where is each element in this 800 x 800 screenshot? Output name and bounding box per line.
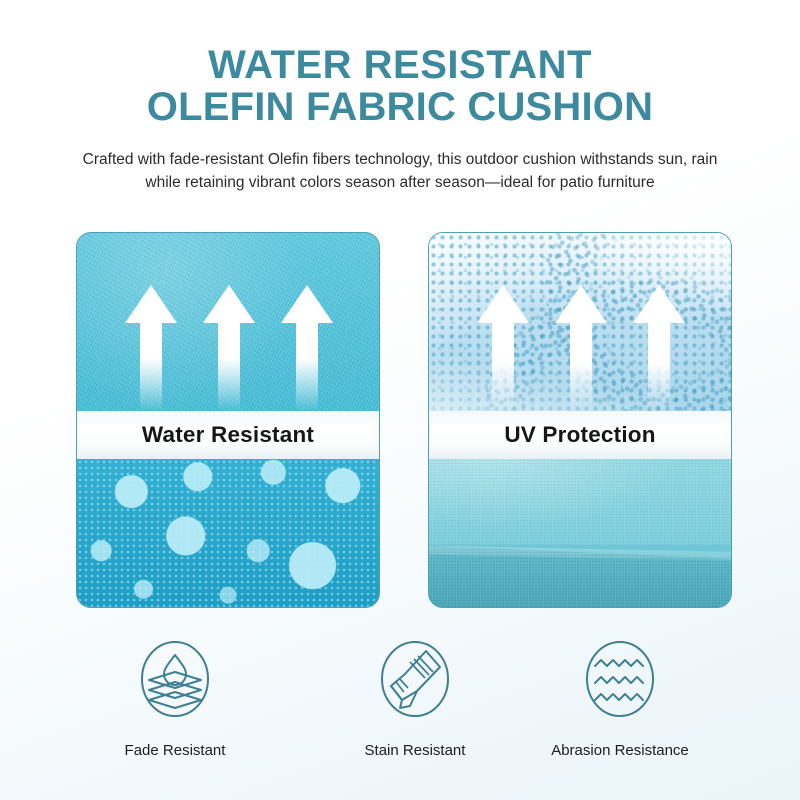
up-arrow-icon [279,283,335,411]
title-line-2: OLEFIN FABRIC CUSHION [0,86,800,128]
title-line-1: WATER RESISTANT [0,44,800,86]
panel-uv-protection-label-band: UV Protection [429,411,731,459]
feature-stain-resistant-label: Stain Resistant [310,742,520,759]
panel-water-resistant-bottom-image [77,459,379,607]
up-arrow-icon [631,283,687,411]
up-arrow-icon [123,283,179,411]
subtitle-line-1: Crafted with fade-resistant Olefin fiber… [0,148,800,171]
panel-uv-protection-top-image [429,233,731,411]
panel-water-resistant: Water Resistant [76,232,380,608]
feature-panels: Water Resistant [0,232,800,610]
feature-stain-resistant: Stain Resistant [310,638,520,759]
feature-fade-resistant-label: Fade Resistant [70,742,280,759]
feature-fade-resistant: Fade Resistant [70,638,280,759]
hand-wiping-cloth-icon [377,638,453,720]
feature-abrasion-resistance: Abrasion Resistance [515,638,725,759]
panel-uv-protection: UV Protection [428,232,732,608]
up-arrow-icon [475,283,531,411]
subtitle-line-2: while retaining vibrant colors season af… [0,171,800,194]
upward-arrows-group-uv [429,283,731,411]
panel-water-resistant-label: Water Resistant [142,422,314,448]
page-title: WATER RESISTANT OLEFIN FABRIC CUSHION [0,0,800,128]
cushion-front-face [429,542,731,607]
panel-uv-protection-bottom-image [429,459,731,607]
cushion-texture [429,459,731,607]
feature-icons-row: Fade Resistant Stain Resistant [0,638,800,778]
up-arrow-icon [553,283,609,411]
panel-water-resistant-label-band: Water Resistant [77,411,379,459]
panel-water-resistant-top-image [77,233,379,411]
page-subtitle: Crafted with fade-resistant Olefin fiber… [0,128,800,194]
droplet-layers-icon [137,638,213,720]
header: WATER RESISTANT OLEFIN FABRIC CUSHION Cr… [0,0,800,194]
upward-arrows-group-water [77,283,379,411]
water-droplets-texture [77,459,379,607]
up-arrow-icon [201,283,257,411]
zigzag-waves-icon [582,638,658,720]
panel-uv-protection-label: UV Protection [504,422,655,448]
cushion-top-surface [429,459,731,545]
infographic-page: WATER RESISTANT OLEFIN FABRIC CUSHION Cr… [0,0,800,800]
feature-abrasion-resistance-label: Abrasion Resistance [515,742,725,759]
